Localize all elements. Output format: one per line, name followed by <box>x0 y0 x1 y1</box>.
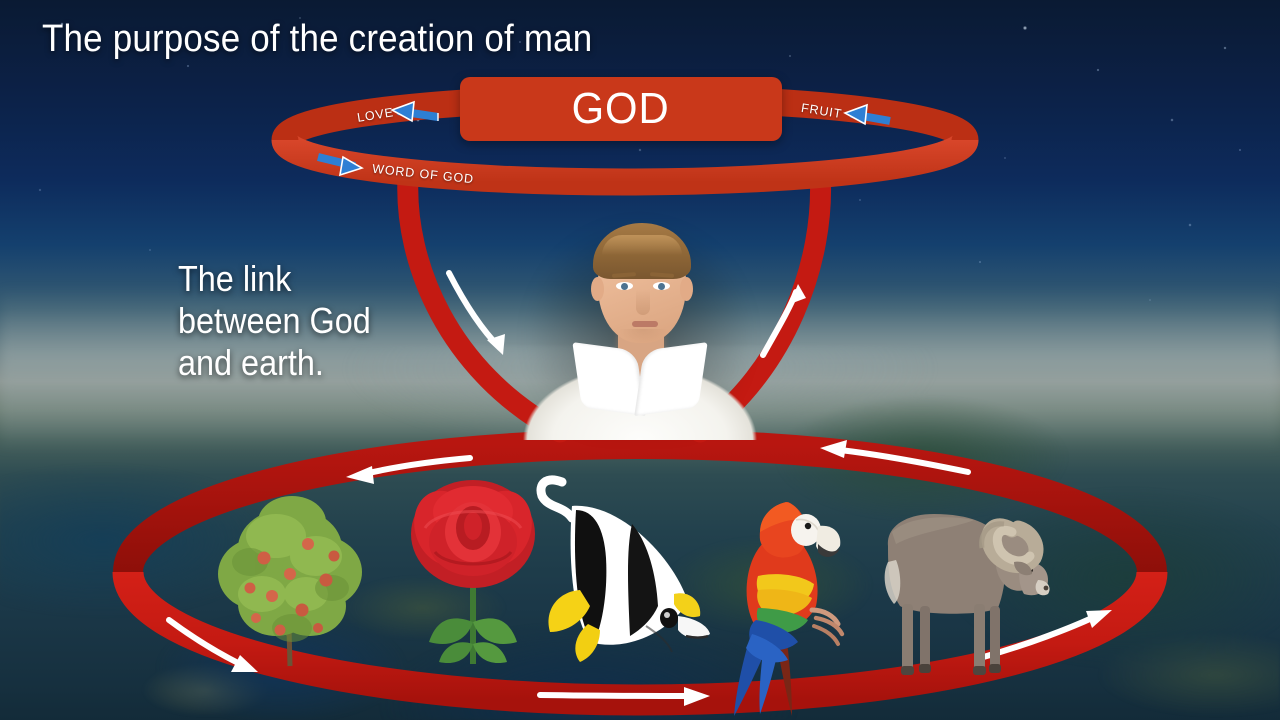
ring-label-love: LOVE <box>356 105 395 125</box>
arrow-left-icon-love <box>392 102 438 121</box>
ring-label-fruit: FRUIT <box>800 101 843 121</box>
god-label-box[interactable]: GOD <box>460 77 782 141</box>
man-chin-shadow <box>618 329 668 343</box>
man-collar-left <box>572 342 645 416</box>
man-portrait <box>506 205 774 440</box>
subtitle-line-2: between God <box>178 300 371 342</box>
man-ear-right <box>680 277 693 301</box>
man-iris-left <box>621 283 628 290</box>
man-eyebrow-right <box>650 272 674 278</box>
man-collar-right <box>634 342 707 416</box>
subtitle-line-1: The link <box>178 258 371 300</box>
arrow-up-icon <box>763 292 796 355</box>
god-label-text: GOD <box>572 84 670 134</box>
creature-bighorn-ram <box>862 470 1052 680</box>
arrow-down-head <box>487 334 505 355</box>
man-nose <box>636 289 650 315</box>
man-shirt <box>506 344 774 440</box>
man-iris-right <box>658 283 665 290</box>
man-head <box>598 231 686 343</box>
man-hair-highlight <box>602 235 682 255</box>
subtitle-line-3: and earth. <box>178 342 371 384</box>
slide-canvas: The purpose of the creation of man The l… <box>0 0 1280 720</box>
man-neck-shadow <box>618 328 664 354</box>
connector-band-left <box>408 178 560 432</box>
arrow-down-icon <box>449 273 500 348</box>
man-neck <box>618 322 664 378</box>
man-drop-shadow <box>520 215 758 435</box>
connector-band-right <box>700 172 821 432</box>
man-eye-right <box>653 282 670 290</box>
ring-label-word-of-god: WORD OF GOD <box>372 162 475 187</box>
slide-title: The purpose of the creation of man <box>42 18 592 61</box>
subtitle-block: The link between God and earth. <box>178 258 371 383</box>
arrow-left-icon-fruit <box>845 105 890 124</box>
man-ear-left <box>591 277 604 301</box>
man-eye-left <box>616 282 633 290</box>
arrow-up-head <box>790 284 806 304</box>
man-mouth <box>632 321 658 327</box>
man-eyebrow-left <box>612 272 636 278</box>
man-hair <box>593 223 691 279</box>
arrow-right-icon-word <box>318 157 362 175</box>
creature-moorish-idol-fish <box>528 466 718 691</box>
creature-pomegranate-tree <box>206 470 376 670</box>
